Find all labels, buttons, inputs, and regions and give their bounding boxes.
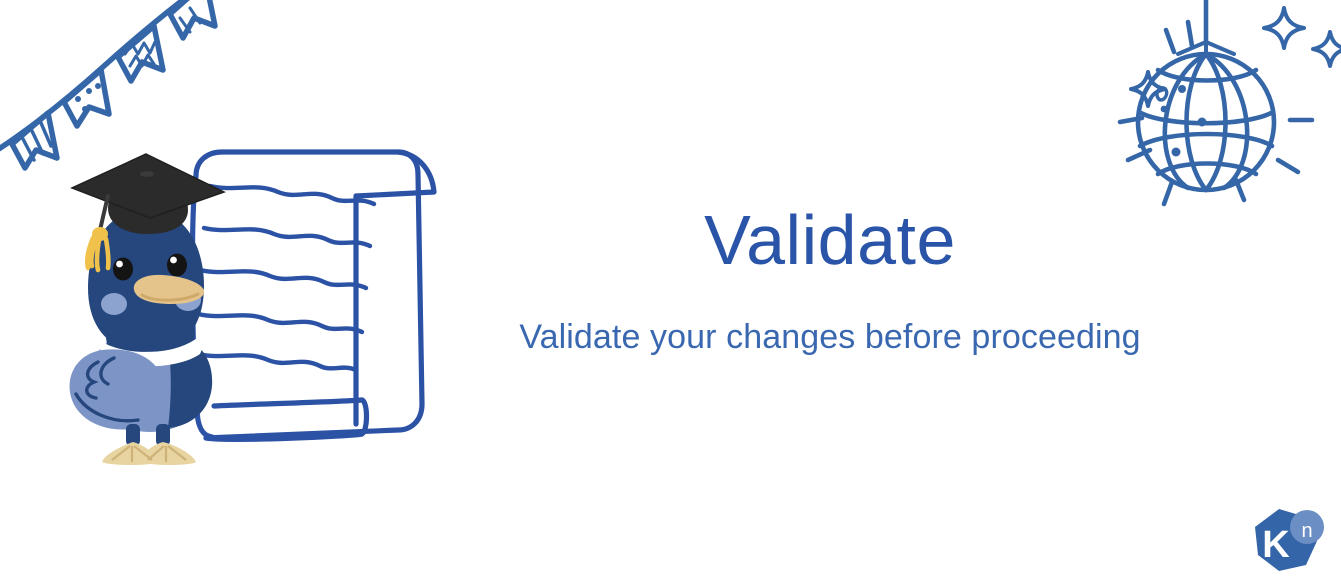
graduate-bird-with-scroll-illustration: [46, 138, 466, 468]
disco-latitude-3: [1158, 70, 1256, 81]
disco-ray-3: [1120, 118, 1142, 122]
bird-eye-left: [113, 258, 133, 281]
scroll-line-4: [198, 314, 362, 332]
hero-text-block: Validate Validate your changes before pr…: [460, 205, 1200, 354]
disco-latitude-4: [1158, 164, 1256, 175]
logo-letter-k: K: [1262, 524, 1290, 566]
disco-latitude-2: [1140, 134, 1272, 146]
bird-eye-right: [167, 254, 187, 277]
scroll-line-2: [204, 228, 370, 246]
disco-ray-6: [1236, 180, 1244, 200]
disco-latitude-1: [1139, 112, 1273, 123]
disco-longitude-3: [1165, 54, 1206, 188]
disco-sparkle-2: [1313, 32, 1341, 66]
bird-wing: [70, 349, 165, 429]
disco-ray-2: [1188, 22, 1192, 46]
bird-eye-left-highlight: [116, 261, 123, 268]
bird-eye-right-highlight: [170, 257, 177, 264]
disco-sparkle-3: [1131, 72, 1165, 106]
scroll-bottom-edge: [214, 400, 362, 406]
disco-ray-1: [1166, 30, 1174, 52]
disco-ray-5: [1164, 182, 1172, 204]
disco-longitude-2: [1206, 54, 1226, 190]
bunting-flag-zigzag: [118, 26, 163, 81]
disco-ray-7: [1278, 160, 1298, 172]
scroll-line-5: [198, 354, 356, 370]
disco-longitude-4: [1206, 54, 1247, 188]
disco-ball-decoration: [1106, 0, 1341, 229]
page-title: Validate: [460, 205, 1200, 275]
disco-ball-sphere: [1138, 54, 1274, 190]
kn-logo[interactable]: K n: [1249, 505, 1327, 577]
page-subtitle: Validate your changes before proceeding: [460, 320, 1200, 354]
bunting-flag-dotted: [64, 70, 109, 126]
disco-ray-4: [1128, 150, 1150, 160]
cap-button: [140, 171, 154, 177]
scroll-text-lines: [198, 186, 374, 370]
screen-root: Validate Validate your changes before pr…: [0, 0, 1341, 585]
scroll-line-1: [210, 186, 374, 204]
bunting-flag-plain: [170, 0, 215, 38]
scroll-top-curl: [356, 152, 434, 196]
logo-letter-n: n: [1301, 520, 1312, 542]
bird-mascot: [70, 154, 224, 465]
disco-longitude-1: [1187, 54, 1207, 190]
scroll-line-3: [200, 270, 366, 288]
disco-sparkle-1: [1264, 8, 1304, 48]
bird-cheek-left: [101, 293, 127, 315]
